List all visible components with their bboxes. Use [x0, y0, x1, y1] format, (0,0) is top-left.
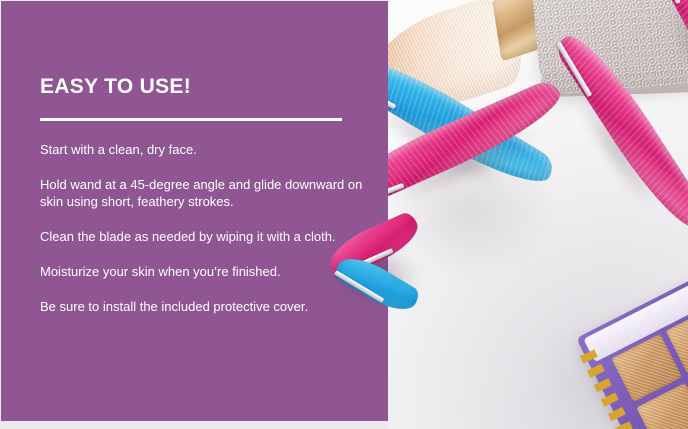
instruction-steps-list: Start with a clean, dry face. Hold wand … — [40, 141, 370, 315]
page-title: EASY TO USE! — [40, 75, 191, 99]
list-item: Start with a clean, dry face. — [40, 141, 370, 158]
photo-scene — [388, 0, 688, 429]
instructions-panel: EASY TO USE! Start with a clean, dry fac… — [1, 1, 388, 421]
list-item: Be sure to install the included protecti… — [40, 298, 370, 315]
list-item: Moisturize your skin when you’re finishe… — [40, 263, 370, 280]
product-instruction-banner: EASY TO USE! Start with a clean, dry fac… — [0, 0, 688, 429]
title-divider — [40, 118, 342, 121]
list-item: Hold wand at a 45-degree angle and glide… — [40, 176, 370, 210]
product-photo — [388, 0, 688, 429]
list-item: Clean the blade as needed by wiping it w… — [40, 228, 370, 245]
